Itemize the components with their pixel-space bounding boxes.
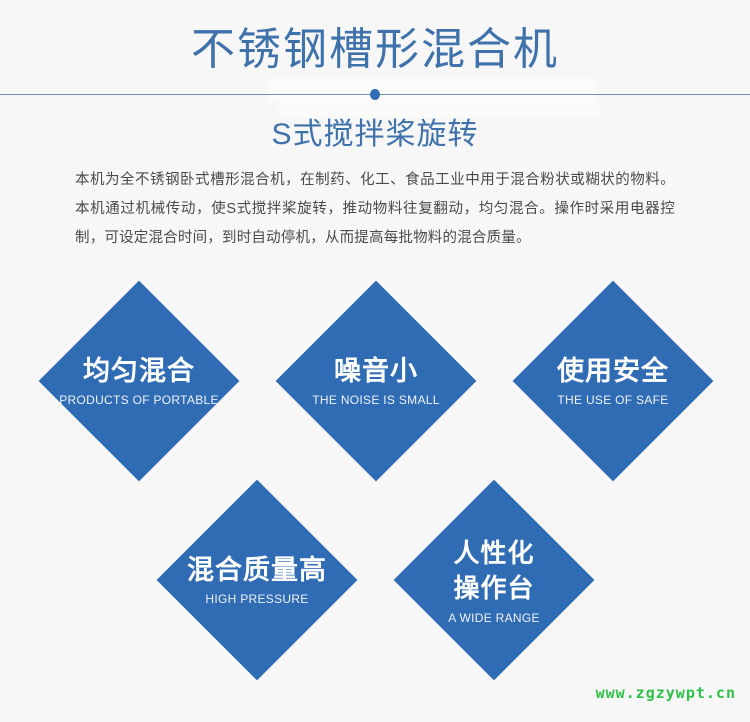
feature-diamond-4-subtitle: HIGH PRESSURE bbox=[205, 592, 308, 606]
page-subtitle: S式搅拌桨旋转 bbox=[0, 116, 750, 154]
title-divider bbox=[0, 84, 750, 104]
divider-dot-icon bbox=[370, 89, 380, 100]
feature-diamond-3-title: 使用安全 bbox=[557, 355, 669, 388]
feature-diamond-3-label: 使用安全 THE USE OF SAFE bbox=[542, 310, 684, 452]
feature-diamond-2-label: 噪音小 THE NOISE IS SMALL bbox=[305, 310, 447, 452]
feature-diamond-2-title: 噪音小 bbox=[334, 355, 418, 388]
site-watermark: www.zgzywpt.cn bbox=[596, 684, 736, 702]
feature-diamond-5-label: 人性化 操作台 A WIDE RANGE bbox=[423, 509, 565, 651]
feature-diamond-1-label: 均匀混合 PRODUCTS OF PORTABLE bbox=[68, 310, 210, 452]
feature-diamond-1[interactable]: 均匀混合 PRODUCTS OF PORTABLE bbox=[39, 281, 240, 482]
banner-header: 不锈钢槽形混合机 S式搅拌桨旋转 bbox=[0, 0, 750, 154]
feature-diamond-4[interactable]: 混合质量高 HIGH PRESSURE bbox=[157, 480, 358, 681]
feature-diamond-3[interactable]: 使用安全 THE USE OF SAFE bbox=[513, 281, 714, 482]
feature-diamond-5[interactable]: 人性化 操作台 A WIDE RANGE bbox=[394, 480, 595, 681]
intro-paragraph: 本机为全不锈钢卧式槽形混合机，在制药、化工、食品工业中用于混合粉状或糊状的物料。… bbox=[75, 166, 675, 253]
feature-diamond-5-subtitle: A WIDE RANGE bbox=[448, 611, 540, 625]
feature-diamond-2[interactable]: 噪音小 THE NOISE IS SMALL bbox=[276, 281, 477, 482]
product-banner: 不锈钢槽形混合机 S式搅拌桨旋转 本机为全不锈钢卧式槽形混合机，在制药、化工、食… bbox=[0, 0, 750, 714]
feature-diamond-1-title: 均匀混合 bbox=[83, 355, 195, 388]
feature-diamond-3-subtitle: THE USE OF SAFE bbox=[557, 393, 668, 407]
feature-diamond-5-title-line1: 人性化 bbox=[453, 536, 534, 571]
feature-diamond-4-label: 混合质量高 HIGH PRESSURE bbox=[186, 509, 328, 651]
feature-diamond-4-title: 混合质量高 bbox=[187, 554, 327, 587]
feature-diamond-2-subtitle: THE NOISE IS SMALL bbox=[312, 393, 439, 407]
feature-diamond-1-subtitle: PRODUCTS OF PORTABLE bbox=[59, 393, 219, 407]
page-title: 不锈钢槽形混合机 bbox=[0, 22, 750, 78]
feature-diamond-5-title-line2: 操作台 bbox=[453, 571, 534, 606]
